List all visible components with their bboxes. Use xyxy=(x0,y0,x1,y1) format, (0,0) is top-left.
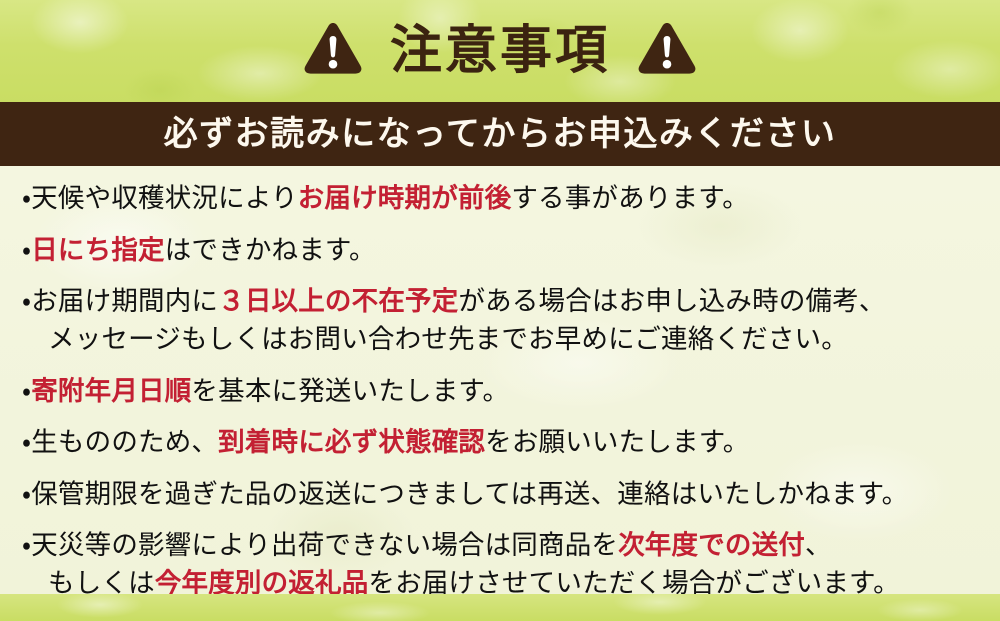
notice-text: 天災等の影響により出荷できない場合は同商品を xyxy=(31,530,618,561)
notice-item: ・生もののため、到着時に必ず状態確認をお願いいたします。 xyxy=(22,424,982,462)
notice-page: 注意事項 必ずお読みになってからお申込みください ・天候や収穫状況によりお届け時… xyxy=(0,0,1000,621)
notice-line: ・天候や収穫状況によりお届け時期が前後する事があります。 xyxy=(22,183,749,214)
footer-band xyxy=(0,594,1000,621)
notice-text: 保管期限を過ぎた品の返送につきましては再送、連絡はいたしかねます。 xyxy=(31,479,908,510)
highlighted-text: 日にち指定 xyxy=(31,235,165,266)
bullet-marker: ・ xyxy=(22,235,31,266)
subtitle-banner: 必ずお読みになってからお申込みください xyxy=(0,102,1000,166)
header-band: 注意事項 xyxy=(0,0,1000,102)
page-title: 注意事項 xyxy=(390,25,610,77)
notice-item: ・お届け期間内に３日以上の不在予定がある場合はお申し込み時の備考、メッセージもし… xyxy=(22,283,982,358)
notice-text: する事があります。 xyxy=(511,183,749,214)
warning-triangle-icon xyxy=(302,20,364,82)
bullet-marker: ・ xyxy=(22,286,31,317)
notice-text: 生もののため、 xyxy=(31,427,218,458)
notice-item: ・寄附年月日順を基本に発送いたします。 xyxy=(22,373,982,411)
bullet-marker: ・ xyxy=(22,427,31,458)
notice-line: ・生もののため、到着時に必ず状態確認をお願いいたします。 xyxy=(22,427,749,458)
notice-text: 、 xyxy=(805,530,832,561)
header-content: 注意事項 xyxy=(0,0,1000,102)
highlighted-text: 到着時に必ず状態確認 xyxy=(218,427,485,458)
notice-line: ・天災等の影響により出荷できない場合は同商品を次年度での送付、 xyxy=(22,530,832,561)
highlighted-text: お届け時期が前後 xyxy=(298,183,512,214)
notice-text: がある場合はお申し込み時の備考、 xyxy=(458,286,885,317)
notice-body: ・天候や収穫状況によりお届け時期が前後する事があります。・日にち指定はできかねま… xyxy=(0,166,1000,594)
notice-item: ・保管期限を過ぎた品の返送につきましては再送、連絡はいたしかねます。 xyxy=(22,476,982,514)
bullet-marker: ・ xyxy=(22,183,31,214)
subtitle-text: 必ずお読みになってからお申込みください xyxy=(164,117,837,151)
notice-text: お届け期間内に xyxy=(31,286,218,317)
warning-triangle-icon xyxy=(636,20,698,82)
bullet-marker: ・ xyxy=(22,530,31,561)
notice-item: ・天災等の影響により出荷できない場合は同商品を次年度での送付、もしくは今年度別の… xyxy=(22,527,982,602)
notice-list: ・天候や収穫状況によりお届け時期が前後する事があります。・日にち指定はできかねま… xyxy=(0,180,1000,603)
notice-text: 天候や収穫状況により xyxy=(31,183,297,214)
notice-item: ・日にち指定はできかねます。 xyxy=(22,232,982,270)
bullet-marker: ・ xyxy=(22,376,31,407)
notice-line: ・お届け期間内に３日以上の不在予定がある場合はお申し込み時の備考、 xyxy=(22,286,886,317)
notice-text: を基本に発送いたします。 xyxy=(191,376,509,407)
notice-item: ・天候や収穫状況によりお届け時期が前後する事があります。 xyxy=(22,180,982,218)
notice-text: はできかねます。 xyxy=(165,235,376,266)
highlighted-text: 次年度での送付 xyxy=(618,530,805,561)
highlighted-text: ３日以上の不在予定 xyxy=(218,286,458,317)
notice-line: ・保管期限を過ぎた品の返送につきましては再送、連絡はいたしかねます。 xyxy=(22,479,908,510)
notice-line: ・日にち指定はできかねます。 xyxy=(22,235,376,266)
notice-line: ・寄附年月日順を基本に発送いたします。 xyxy=(22,376,509,407)
highlighted-text: 寄附年月日順 xyxy=(31,376,191,407)
notice-text: メッセージもしくはお問い合わせ先までお早めにご連絡ください。 xyxy=(48,324,848,355)
bullet-marker: ・ xyxy=(22,479,31,510)
notice-text: をお願いいたします。 xyxy=(485,427,749,458)
notice-line-continuation: メッセージもしくはお問い合わせ先までお早めにご連絡ください。 xyxy=(22,321,982,359)
